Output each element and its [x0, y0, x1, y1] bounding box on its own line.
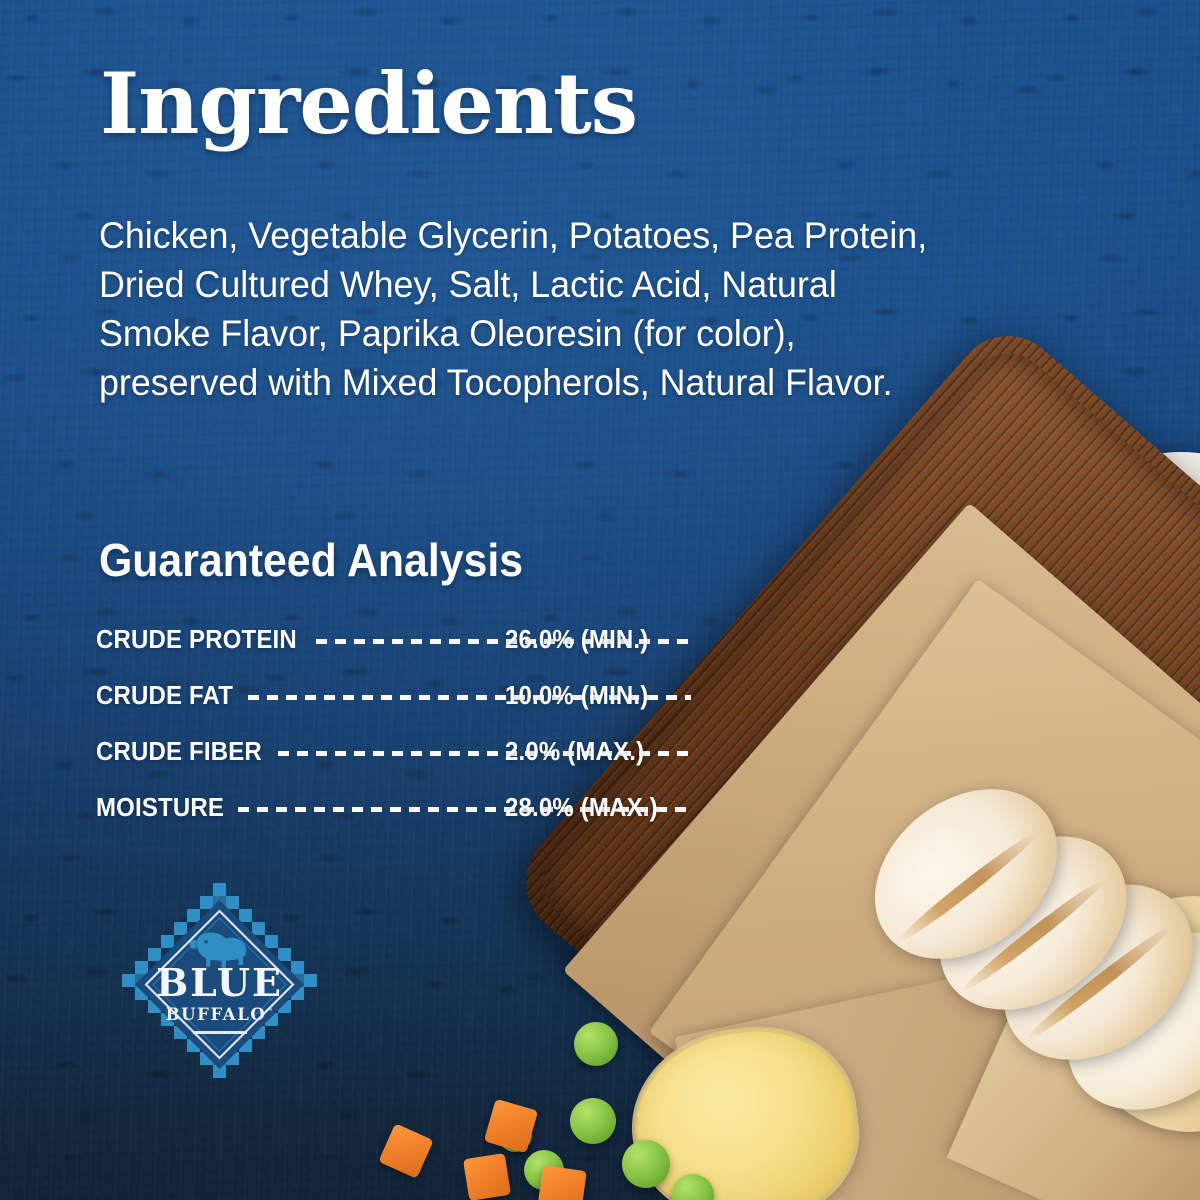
blue-buffalo-logo: BLUE BUFFALO™: [112, 877, 327, 1092]
guaranteed-analysis-title: Guaranteed Analysis: [99, 537, 523, 583]
table-row: MOISTURE 28.0% (MAX.): [96, 780, 696, 836]
nutrient-value: 10.0% (MIN.): [505, 668, 648, 724]
table-row: CRUDE FAT 10.0% (MIN.): [96, 668, 696, 724]
nutrient-value: 26.0% (MIN.): [505, 612, 648, 668]
text-layer: Ingredients Chicken, Vegetable Glycerin,…: [0, 0, 1200, 1200]
nutrient-value: 28.0% (MAX.): [505, 780, 658, 836]
nutrient-label: CRUDE PROTEIN: [96, 626, 297, 655]
nutrient-label: MOISTURE: [96, 794, 224, 823]
nutrient-label: CRUDE FAT: [96, 682, 233, 711]
ingredients-panel: Ingredients Chicken, Vegetable Glycerin,…: [0, 0, 1200, 1200]
ingredients-list: Chicken, Vegetable Glycerin, Potatoes, P…: [99, 211, 949, 407]
nutrient-label: CRUDE FIBER: [96, 738, 262, 767]
table-row: CRUDE FIBER 2.0% (MAX.): [96, 724, 696, 780]
table-row: CRUDE PROTEIN 26.0% (MIN.): [96, 612, 696, 668]
nutrient-value: 2.0% (MAX.): [505, 724, 644, 780]
diamond-field: [135, 900, 304, 1069]
guaranteed-analysis-table: CRUDE PROTEIN 26.0% (MIN.) CRUDE FAT 10.…: [96, 612, 696, 836]
page-title: Ingredients: [100, 62, 637, 146]
